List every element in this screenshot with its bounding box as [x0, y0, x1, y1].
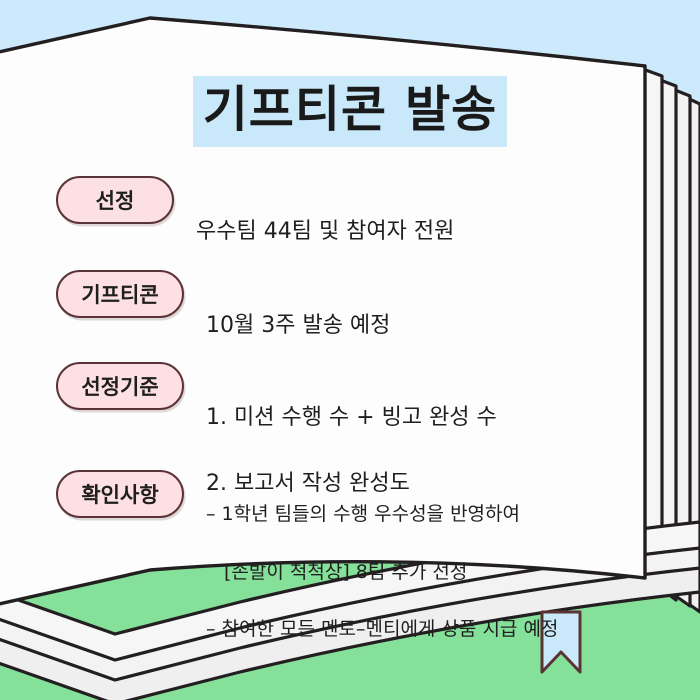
detail-text-selection: 우수팀 44팀 및 참여자 전원 [196, 176, 656, 281]
detail-line: 1. 미션 수행 수 + 빙고 완성 수 [206, 401, 656, 434]
infographic-card: 기프티콘 발송 선정 우수팀 44팀 및 참여자 전원 기프티콘 10월 3주 … [0, 0, 700, 700]
detail-row-notice: 확인사항 – 1학년 팀들의 수행 우수성을 반영하여 [손발이 척척상] 8팀… [56, 470, 656, 673]
badge-gifticon: 기프티콘 [56, 270, 184, 318]
badge-criteria: 선정기준 [56, 362, 184, 410]
badge-selection: 선정 [56, 176, 174, 224]
page-title: 기프티콘 발송 [193, 76, 508, 147]
detail-line: 우수팀 44팀 및 참여자 전원 [196, 215, 656, 248]
detail-text-gifticon: 10월 3주 발송 예정 [206, 270, 656, 375]
card-content: 기프티콘 발송 선정 우수팀 44팀 및 참여자 전원 기프티콘 10월 3주 … [0, 0, 700, 700]
detail-text-notice: – 1학년 팀들의 수행 우수성을 반영하여 [손발이 척척상] 8팀 추가 선… [206, 470, 656, 673]
detail-line: – 참여한 모든 멘토–멘티에게 상품 지급 예정 [206, 615, 656, 644]
detail-row-selection: 선정 우수팀 44팀 및 참여자 전원 [56, 176, 656, 281]
badge-notice: 확인사항 [56, 470, 184, 518]
detail-line: 10월 3주 발송 예정 [206, 309, 656, 342]
detail-row-gifticon: 기프티콘 10월 3주 발송 예정 [56, 270, 656, 375]
page-title-wrapper: 기프티콘 발송 [0, 76, 700, 147]
detail-line: [손발이 척척상] 8팀 추가 선정 [206, 558, 656, 587]
detail-line: – 1학년 팀들의 수행 우수성을 반영하여 [206, 500, 656, 529]
